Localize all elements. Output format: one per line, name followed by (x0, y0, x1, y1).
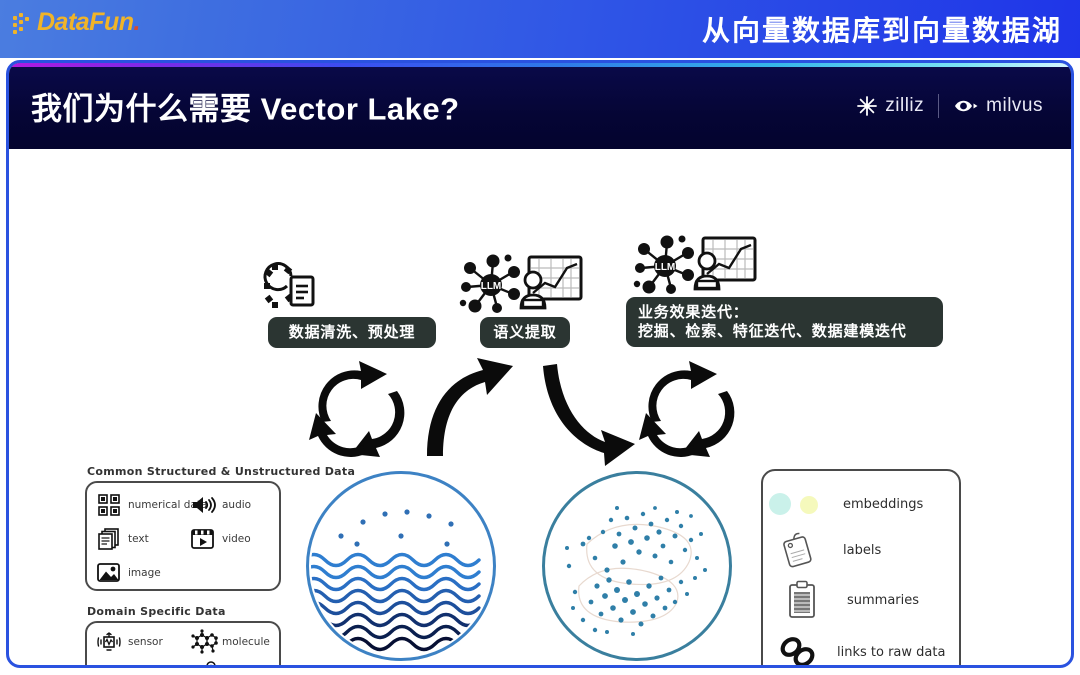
list-item: labels (783, 533, 881, 567)
image-icon (97, 561, 121, 585)
vector-outputs-card: embeddings labels (761, 469, 961, 668)
list-item: links to raw data (781, 635, 945, 668)
datafun-dots-icon (12, 12, 34, 34)
list-item: image (97, 561, 161, 585)
domain-data-card: sensor (85, 621, 281, 668)
slide-canvas: LLM (9, 151, 1071, 665)
pipeline-icon-2: LLM (461, 256, 583, 314)
common-data-caption: Common Structured & Unstructured Data (87, 465, 355, 478)
list-item-label: links to raw data (837, 645, 945, 660)
top-banner: DataFun. 从向量数据库到向量数据湖 (0, 0, 1080, 58)
tag-label-icon (783, 533, 817, 567)
common-data-card: numerical data audio (85, 481, 281, 591)
molecule-icon (191, 630, 215, 654)
list-item-label: text (128, 533, 149, 545)
list-item: video (191, 527, 251, 551)
list-item: summaries (785, 583, 919, 617)
pipeline-arrows (9, 356, 1071, 466)
pipeline-label-2: 语义提取 (480, 317, 570, 348)
chain-link-icon (781, 635, 815, 668)
banner-title: 从向量数据库到向量数据湖 (702, 9, 1062, 49)
datafun-wordmark-dot: . (134, 8, 140, 36)
list-item: molecule (191, 630, 270, 654)
logo-divider (938, 94, 939, 118)
datafun-wordmark-main: DataFun (37, 8, 134, 36)
llm-network-analyst-icon: LLM (635, 237, 757, 295)
pipeline-icon-1 (265, 261, 323, 311)
scatter-points-icon (545, 474, 729, 658)
video-clapper-icon (191, 527, 215, 551)
zilliz-logo: zilliz (856, 95, 924, 117)
sensor-icon (97, 630, 121, 654)
data-lake-circle (306, 471, 496, 661)
pipeline-icon-3: LLM (635, 237, 757, 295)
zilliz-star-icon (856, 95, 878, 117)
arrow-recycle-2 (639, 361, 734, 457)
svg-text:LLM: LLM (655, 262, 676, 273)
list-item-label: image (128, 567, 161, 579)
milvus-logo: milvus (953, 95, 1043, 117)
domain-data-caption: Domain Specific Data (87, 605, 226, 618)
documents-stack-icon (97, 527, 121, 551)
slide-title-bar: 我们为什么需要 Vector Lake? (9, 63, 1071, 149)
page-title: 我们为什么需要 Vector Lake? (31, 84, 460, 129)
list-item-label: audio (222, 499, 251, 511)
list-item-label: summaries (847, 593, 919, 608)
clipboard-icon (785, 583, 819, 617)
slide-frame: 我们为什么需要 Vector Lake? (6, 60, 1074, 668)
milvus-logo-label: milvus (986, 95, 1043, 117)
list-item: text (97, 527, 149, 551)
speaker-icon (191, 493, 215, 517)
embeddings-dots-icon (779, 487, 813, 521)
pipeline-label-1: 数据清洗、预处理 (268, 317, 436, 348)
list-item-label: embeddings (843, 497, 923, 512)
arrow-curve-up-right (427, 358, 513, 456)
list-item-label: video (222, 533, 251, 545)
vector-lake-circle (542, 471, 732, 661)
llm-network-analyst-icon: LLM (461, 256, 583, 314)
svg-text:LLM: LLM (481, 281, 502, 292)
list-item-label: sensor (128, 636, 163, 648)
zilliz-logo-label: zilliz (885, 95, 924, 117)
list-item: embeddings (779, 487, 923, 521)
milvus-eye-icon (953, 97, 979, 115)
list-item: 3d mesh (97, 663, 174, 668)
gear-document-icon (265, 261, 323, 311)
list-item: geospatial (191, 663, 277, 668)
list-item: sensor (97, 630, 163, 654)
grid-blocks-icon (97, 493, 121, 517)
slide-screenshot: DataFun. 从向量数据库到向量数据湖 我们为什么需要 Vector Lak… (0, 0, 1080, 675)
list-item-label: labels (843, 543, 881, 558)
list-item: audio (191, 493, 251, 517)
pipeline-label-3: 业务效果迭代： 挖掘、检索、特征迭代、数据建模迭代 (626, 297, 943, 347)
arrow-curve-down-right (543, 364, 635, 466)
list-item-label: molecule (222, 636, 270, 648)
title-accent-line (9, 63, 1071, 67)
sponsor-logos: zilliz milvus (856, 94, 1043, 118)
arrow-recycle-1 (309, 361, 404, 457)
3d-mesh-icon (97, 663, 121, 668)
geospatial-globe-icon (191, 663, 215, 668)
datafun-wordmark: DataFun. (37, 10, 140, 35)
datafun-logo: DataFun. (12, 10, 140, 35)
